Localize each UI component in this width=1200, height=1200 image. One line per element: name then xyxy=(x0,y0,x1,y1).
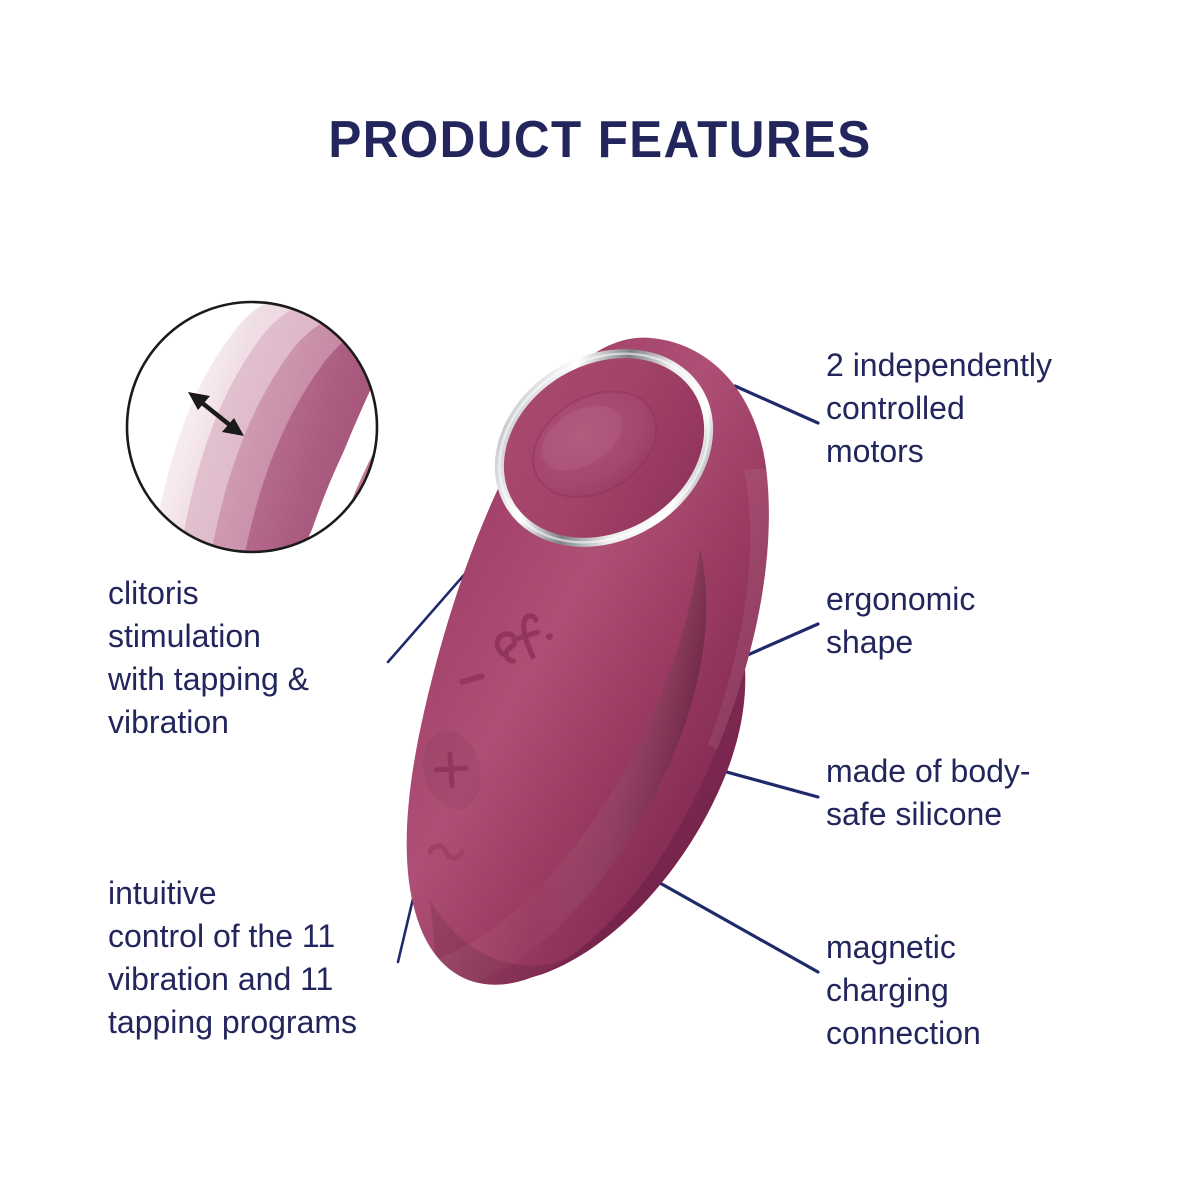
leader-lines xyxy=(612,386,818,972)
product-features-infographic: PRODUCT FEATURES clitoris stimulation wi… xyxy=(0,0,1200,1200)
minus-button[interactable] xyxy=(459,673,486,686)
leader-line-silicone xyxy=(690,762,818,797)
device-ergonomic-ridge xyxy=(424,548,706,984)
callout-intuitive-control: intuitive control of the 11 vibration an… xyxy=(108,872,438,1044)
chrome-ring xyxy=(464,316,743,580)
leader-line-motors xyxy=(735,386,818,423)
satisfyer-logo xyxy=(492,611,557,666)
callout-magnetic-charging-connection: magnetic charging connection xyxy=(826,926,1106,1055)
leader-line-ergonomic xyxy=(718,624,818,668)
satisfyer-device xyxy=(398,316,772,1000)
stimulation-dimple xyxy=(514,370,676,519)
wave-button[interactable] xyxy=(430,846,462,858)
callout-independently-controlled-motors: 2 independently controlled motors xyxy=(826,344,1126,473)
double-headed-motion-arrow xyxy=(188,392,244,436)
callout-clitoris-stimulation: clitoris stimulation with tapping & vibr… xyxy=(108,572,408,744)
device-lower-lobe xyxy=(432,560,745,981)
page-title: PRODUCT FEATURES xyxy=(30,110,1170,170)
plus-button[interactable] xyxy=(415,724,489,815)
leader-line-clitoris xyxy=(388,458,566,662)
tapping-motion-illustration xyxy=(127,298,520,612)
callout-ergonomic-shape: ergonomic shape xyxy=(826,578,1106,664)
leader-line-magnetic xyxy=(612,856,818,972)
top-face-surface xyxy=(464,316,743,580)
inset-circle-border xyxy=(127,302,377,552)
device-body xyxy=(407,338,769,985)
callout-body-safe-silicone: made of body- safe silicone xyxy=(826,750,1106,836)
device-top-face xyxy=(464,316,743,580)
